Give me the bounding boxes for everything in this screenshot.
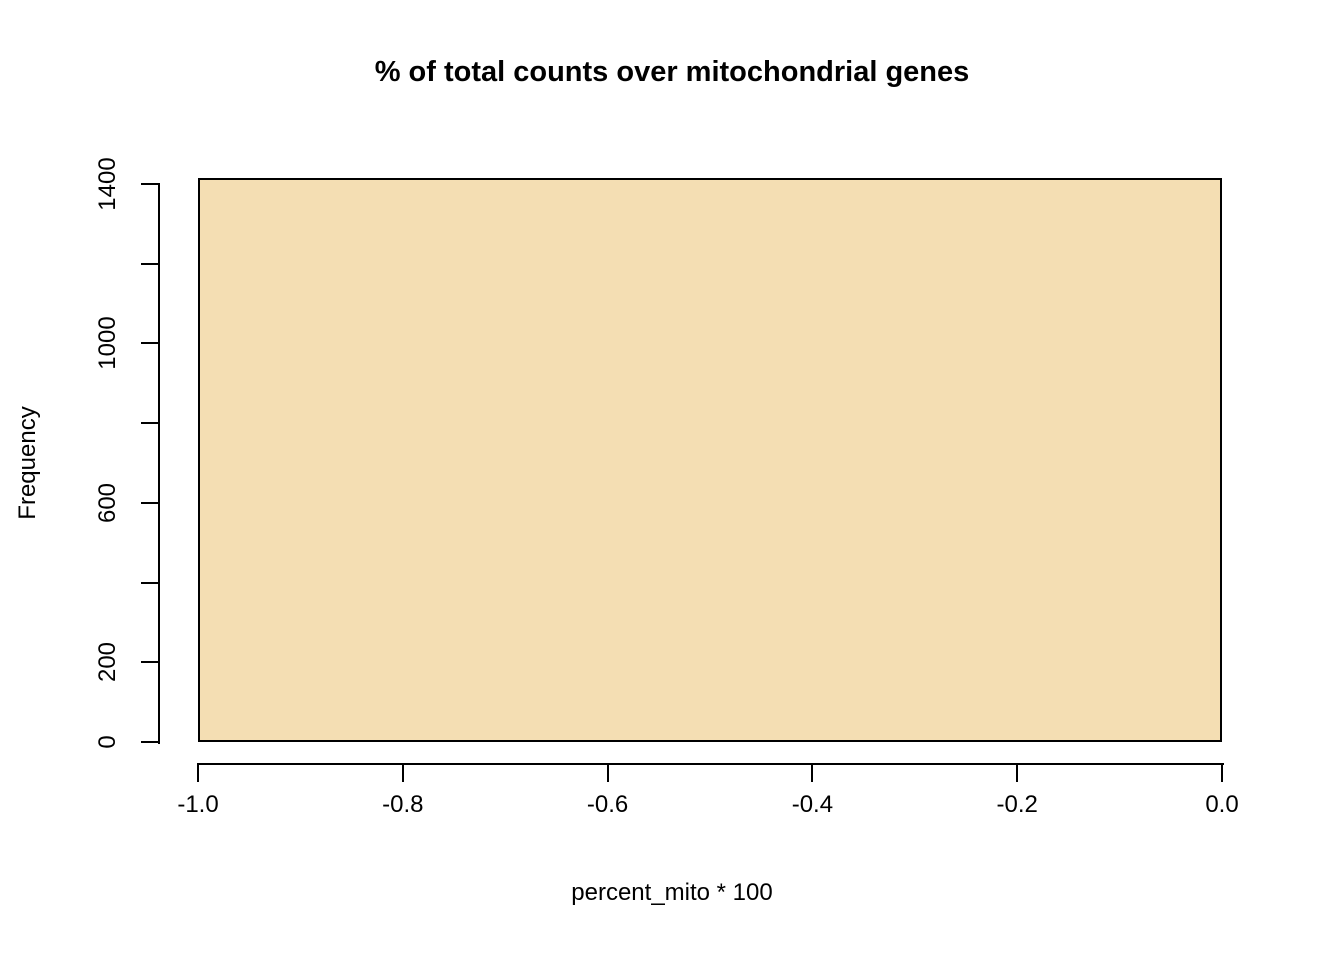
y-axis-tick (141, 183, 160, 185)
x-axis-tick-label: -1.0 (177, 793, 218, 817)
x-axis-tick (1016, 763, 1018, 782)
x-axis-tick-label: -0.2 (997, 793, 1038, 817)
x-axis-tick (811, 763, 813, 782)
y-axis-tick (141, 661, 160, 663)
x-axis-tick (402, 763, 404, 782)
y-axis-tick-label: 0 (96, 735, 120, 748)
x-axis-tick (197, 763, 199, 782)
x-axis-tick (1221, 763, 1223, 782)
y-axis-title: Frequency (16, 406, 40, 519)
x-axis-tick-label: -0.4 (792, 793, 833, 817)
x-axis-tick (607, 763, 609, 782)
y-axis-tick (141, 582, 160, 584)
x-axis-title: percent_mito * 100 (0, 881, 1344, 905)
histogram-bar (198, 178, 1222, 742)
x-axis-tick-label: -0.6 (587, 793, 628, 817)
histogram-plot: % of total counts over mitochondrial gen… (0, 0, 1344, 960)
chart-title: % of total counts over mitochondrial gen… (0, 58, 1344, 87)
y-axis-tick-label: 1400 (96, 157, 120, 210)
y-axis-tick (141, 422, 160, 424)
y-axis-tick-label: 1000 (96, 317, 120, 370)
x-axis-tick-label: 0.0 (1205, 793, 1238, 817)
y-axis-tick (141, 502, 160, 504)
y-axis-tick (141, 741, 160, 743)
x-axis-tick-label: -0.8 (382, 793, 423, 817)
y-axis-tick (141, 263, 160, 265)
x-axis-line (198, 763, 1224, 765)
plot-area (198, 176, 1222, 742)
y-axis-tick-label: 200 (96, 642, 120, 682)
y-axis-line (158, 184, 160, 744)
y-axis-tick-label: 600 (96, 483, 120, 523)
y-axis-tick (141, 342, 160, 344)
